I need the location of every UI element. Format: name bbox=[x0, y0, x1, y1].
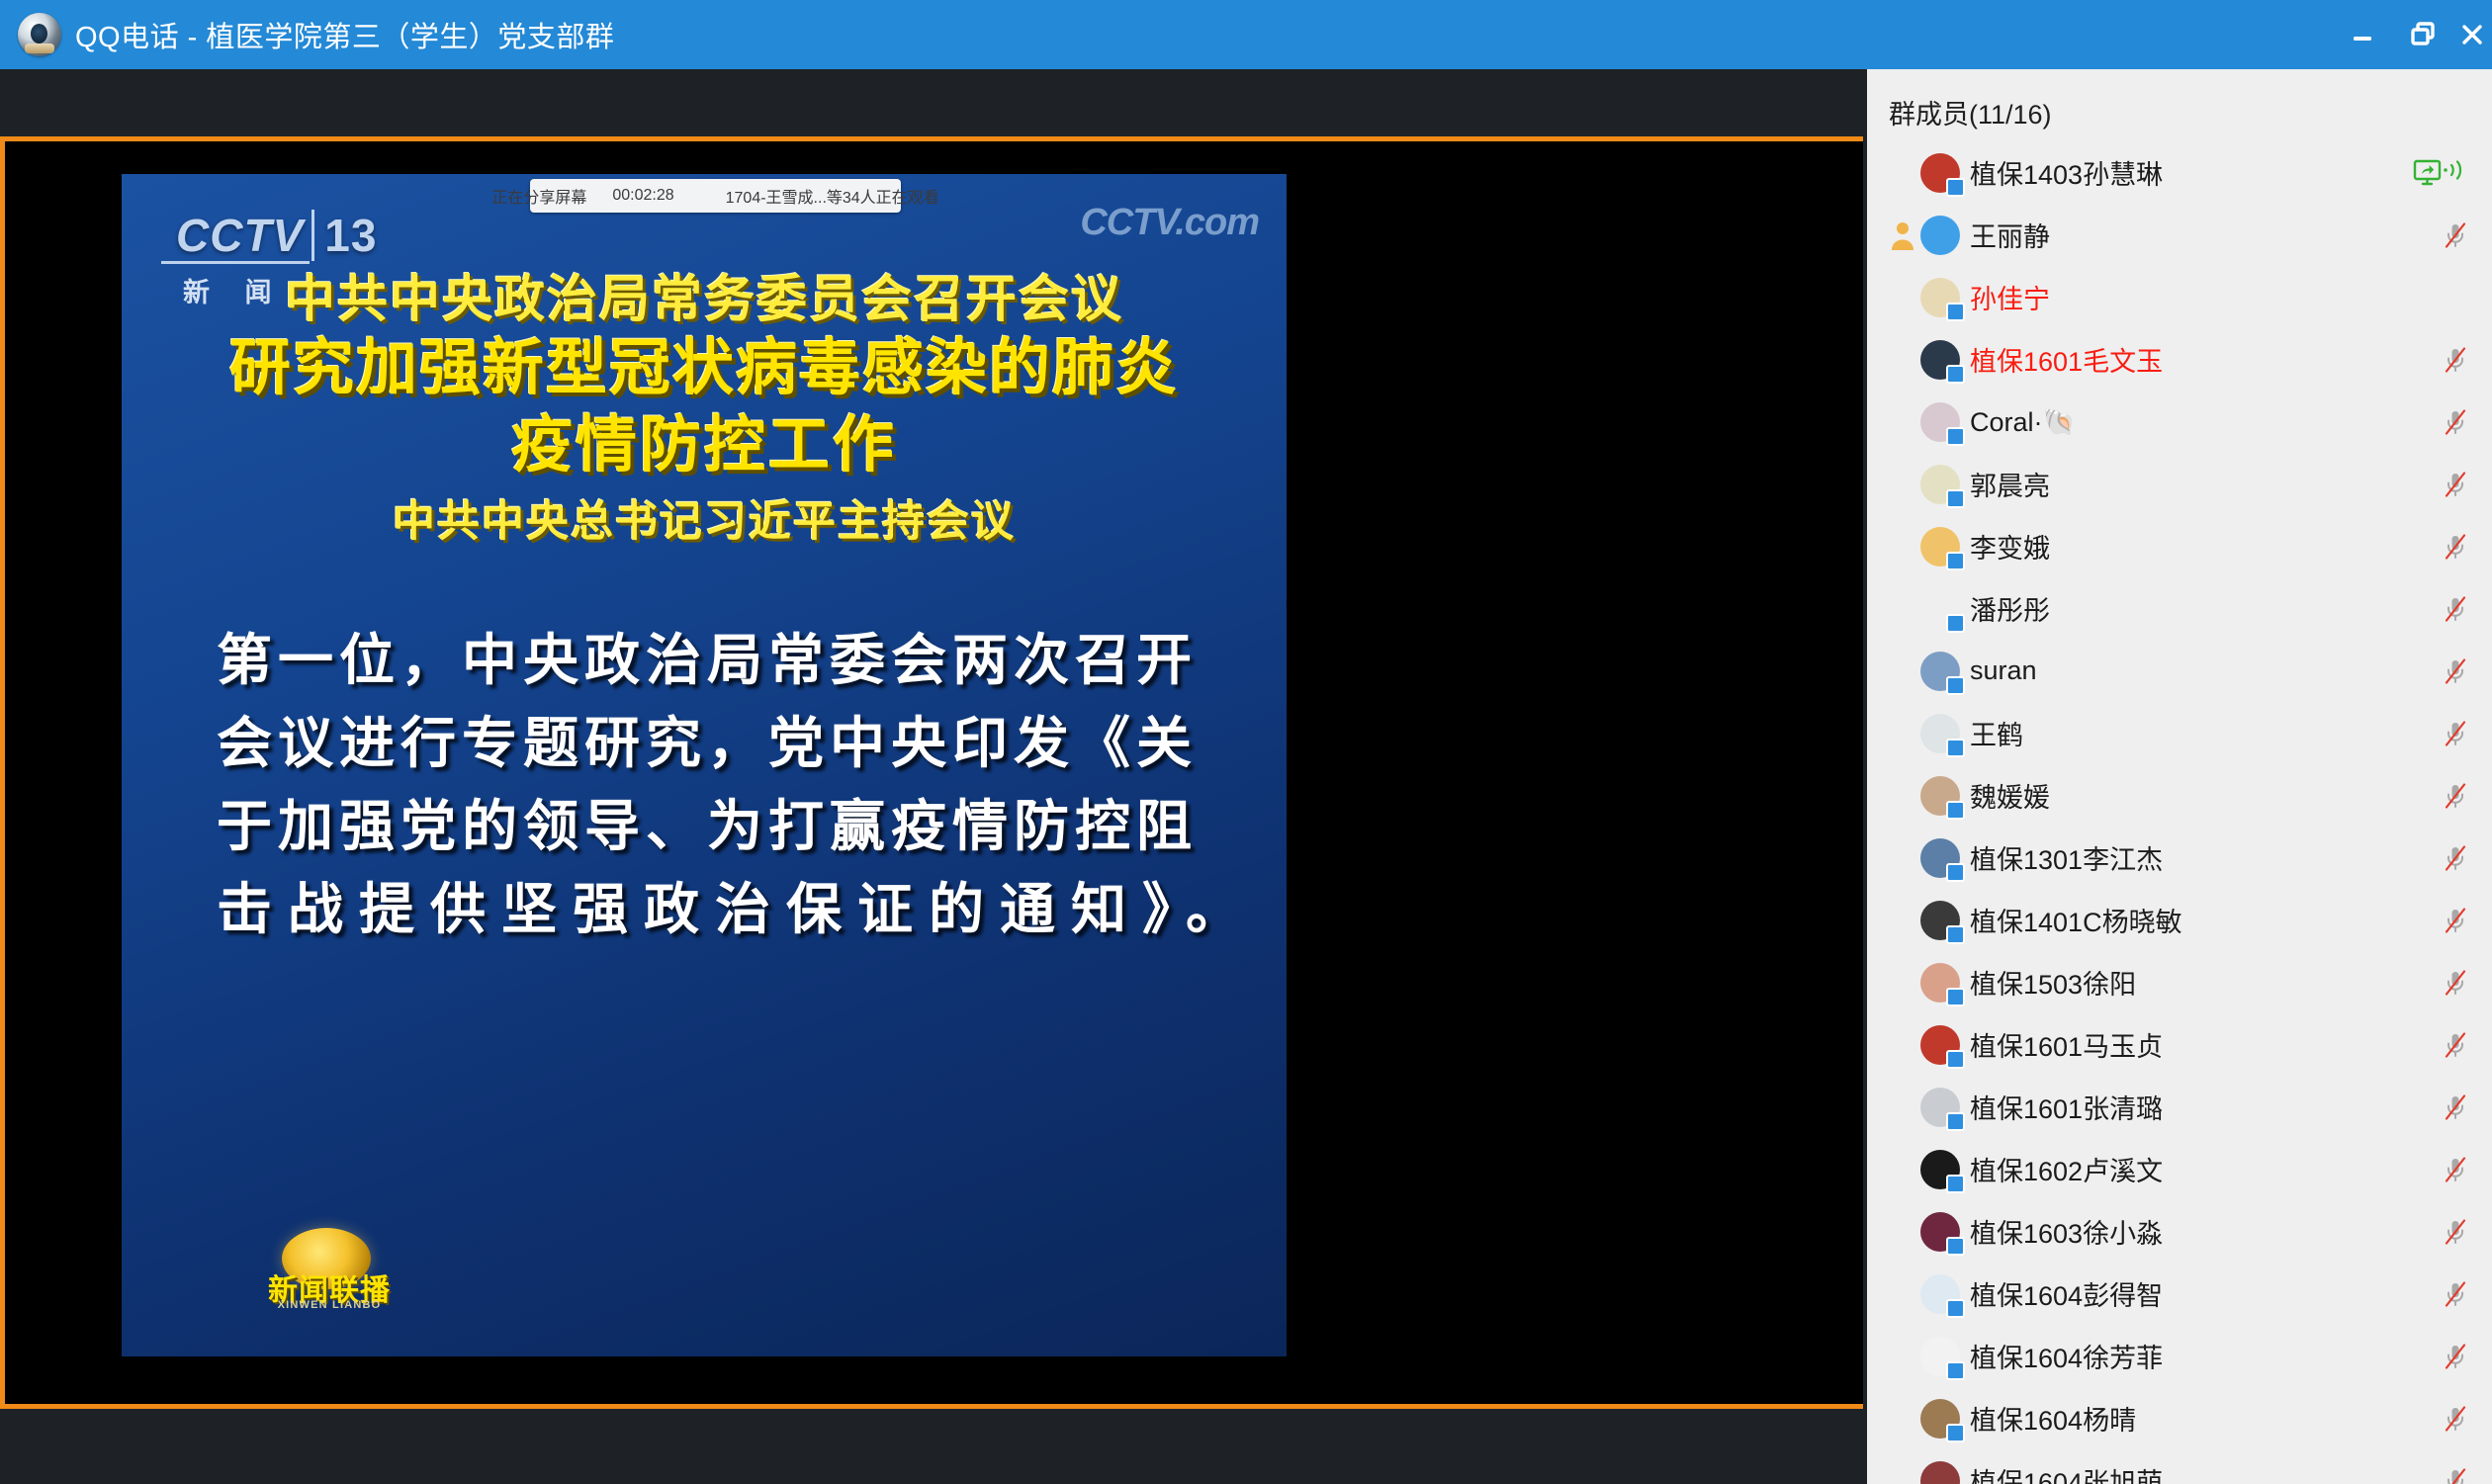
avatar bbox=[1920, 1337, 1960, 1376]
member-status-icons bbox=[2441, 1342, 2470, 1371]
avatar bbox=[1920, 963, 1960, 1003]
mic-off-icon bbox=[2441, 1466, 2470, 1484]
share-status-viewers: 1704-王雪成...等34人正在观看 bbox=[726, 184, 939, 208]
speaking-person-icon bbox=[1885, 215, 1920, 256]
avatar bbox=[1920, 527, 1960, 567]
shared-screen-frame: CCTV13 新 闻 CCTV.com 中共中央政治局常务委员会召开会议 研究加… bbox=[0, 136, 1863, 1409]
avatar bbox=[1920, 901, 1960, 940]
mic-off-icon bbox=[2441, 345, 2470, 375]
member-name: 植保1301李江杰 bbox=[1970, 838, 2163, 877]
member-name: 王丽静 bbox=[1970, 216, 2050, 254]
star-badge-icon bbox=[1946, 1361, 1965, 1380]
member-name: suran bbox=[1970, 655, 2037, 686]
avatar bbox=[1920, 1274, 1960, 1314]
avatar bbox=[1920, 776, 1960, 816]
avatar bbox=[1920, 216, 1960, 255]
mic-off-icon bbox=[2441, 1155, 2470, 1184]
member-status-icons bbox=[2441, 781, 2470, 811]
xinwen-lianbo-pinyin: XINWEN LIANBO bbox=[250, 1299, 408, 1311]
restore-icon[interactable] bbox=[2393, 0, 2454, 69]
speaking-indicator-placeholder bbox=[1885, 1149, 1920, 1190]
member-status-icons bbox=[2441, 594, 2470, 624]
mic-off-icon bbox=[2441, 1342, 2470, 1371]
member-status-icons bbox=[2413, 158, 2470, 188]
member-name: 植保1604张旭萌 bbox=[1970, 1461, 2163, 1484]
qq-phone-icon bbox=[18, 13, 61, 56]
avatar bbox=[1920, 1088, 1960, 1127]
speaking-indicator-placeholder bbox=[1885, 401, 1920, 443]
device-badge-icon bbox=[1946, 1175, 1965, 1193]
member-panel: 群成员(11/16) 植保1403孙慧琳王丽静孙佳宁植保1601毛文玉Coral… bbox=[1867, 69, 2492, 1484]
member-status-icons bbox=[2441, 1155, 2470, 1184]
member-name: 植保1603徐小淼 bbox=[1970, 1212, 2163, 1251]
body-line-2: 会议进行专题研究，党中央印发《关 bbox=[217, 702, 1186, 785]
speaking-indicator-placeholder bbox=[1885, 1273, 1920, 1315]
member-name: 植保1604徐芳菲 bbox=[1970, 1337, 2163, 1375]
speaking-person-icon bbox=[1888, 219, 1917, 251]
mic-off-icon bbox=[2441, 1217, 2470, 1247]
member-status-icons bbox=[2441, 407, 2470, 437]
member-row[interactable]: 郭晨亮 bbox=[1867, 453, 2492, 515]
member-name: 魏媛媛 bbox=[1970, 776, 2050, 815]
share-status-duration: 00:02:28 bbox=[612, 187, 673, 205]
headline-line-3: 疫情防控工作 bbox=[122, 407, 1287, 484]
member-row[interactable]: 植保1503徐阳 bbox=[1867, 951, 2492, 1013]
member-panel-header: 群成员(11/16) bbox=[1867, 69, 2492, 141]
avatar bbox=[1920, 1461, 1960, 1484]
avatar bbox=[1920, 402, 1960, 442]
cctv-underline bbox=[161, 261, 310, 264]
avatar bbox=[1920, 1399, 1960, 1439]
star-badge-icon bbox=[1946, 178, 1965, 197]
member-name: 李变娥 bbox=[1970, 527, 2050, 566]
cctv-logo-text: CCTV bbox=[176, 210, 304, 261]
member-status-icons bbox=[2441, 1030, 2470, 1060]
member-row[interactable]: 孙佳宁 bbox=[1867, 266, 2492, 328]
device-badge-icon bbox=[1946, 365, 1965, 384]
member-row[interactable]: 植保1604彭得智 bbox=[1867, 1263, 2492, 1325]
avatar bbox=[1920, 1025, 1960, 1065]
window-title: QQ电话 - 植医学院第三（学生）党支部群 bbox=[75, 14, 614, 55]
device-badge-icon bbox=[1946, 925, 1965, 944]
mic-off-icon bbox=[2441, 781, 2470, 811]
member-status-icons bbox=[2441, 1279, 2470, 1309]
headline-line-2: 研究加强新型冠状病毒感染的肺炎 bbox=[122, 330, 1287, 407]
speaking-indicator-placeholder bbox=[1885, 1460, 1920, 1484]
minimize-icon[interactable] bbox=[2332, 0, 2393, 69]
speaking-indicator-placeholder bbox=[1885, 1211, 1920, 1253]
member-name: 植保1601马玉贞 bbox=[1970, 1025, 2163, 1064]
video-stage: CCTV13 新 闻 CCTV.com 中共中央政治局常务委员会召开会议 研究加… bbox=[0, 69, 1867, 1418]
member-row[interactable]: 植保1601毛文玉 bbox=[1867, 328, 2492, 391]
member-name: 潘彤彤 bbox=[1970, 589, 2050, 628]
share-status-label: 正在分享屏幕 bbox=[491, 184, 586, 208]
member-row[interactable]: 植保1604杨晴 bbox=[1867, 1387, 2492, 1449]
headline-line-4: 中共中央总书记习近平主持会议 bbox=[122, 490, 1287, 554]
member-name: 植保1604杨晴 bbox=[1970, 1399, 2136, 1438]
member-status-icons bbox=[2441, 968, 2470, 998]
share-status-bar: 正在分享屏幕 00:02:28 1704-王雪成...等34人正在观看 bbox=[530, 179, 901, 213]
member-row[interactable]: 植保1604徐芳菲 bbox=[1867, 1325, 2492, 1387]
member-name: 植保1503徐阳 bbox=[1970, 963, 2136, 1002]
member-status-icons bbox=[2441, 1217, 2470, 1247]
member-name: Coral·🐚 bbox=[1970, 406, 2076, 438]
member-name: 植保1602卢溪文 bbox=[1970, 1150, 2163, 1188]
device-badge-icon bbox=[1946, 1050, 1965, 1069]
device-badge-icon bbox=[1946, 676, 1965, 695]
avatar bbox=[1920, 838, 1960, 878]
member-row[interactable]: Coral·🐚 bbox=[1867, 391, 2492, 453]
member-row[interactable]: 植保1403孙慧琳 bbox=[1867, 141, 2492, 204]
member-row[interactable]: 潘彤彤 bbox=[1867, 577, 2492, 640]
avatar bbox=[1920, 714, 1960, 753]
member-row[interactable]: 王丽静 bbox=[1867, 204, 2492, 266]
speaking-indicator-placeholder bbox=[1885, 1336, 1920, 1377]
avatar bbox=[1920, 340, 1960, 380]
device-badge-icon bbox=[1946, 1237, 1965, 1256]
qq-call-window: QQ电话 - 植医学院第三（学生）党支部群 bbox=[0, 0, 2492, 1484]
speaking-indicator-placeholder bbox=[1885, 1398, 1920, 1440]
member-list[interactable]: 植保1403孙慧琳王丽静孙佳宁植保1601毛文玉Coral·🐚郭晨亮李变娥潘彤彤… bbox=[1867, 141, 2492, 1484]
mic-off-icon bbox=[2441, 843, 2470, 873]
member-status-icons bbox=[2441, 220, 2470, 250]
avatar bbox=[1920, 1212, 1960, 1252]
avatar bbox=[1920, 652, 1960, 691]
speaking-indicator-placeholder bbox=[1885, 713, 1920, 754]
news-headline: 中共中央政治局常务委员会召开会议 研究加强新型冠状病毒感染的肺炎 疫情防控工作 … bbox=[122, 269, 1287, 554]
cctv-com-watermark: CCTV.com bbox=[1080, 202, 1259, 244]
member-row[interactable]: 植保1601张清璐 bbox=[1867, 1076, 2492, 1138]
member-name: 王鹤 bbox=[1970, 714, 2023, 752]
speaking-indicator-placeholder bbox=[1885, 775, 1920, 817]
close-icon[interactable] bbox=[2454, 0, 2492, 69]
mic-off-icon bbox=[2441, 470, 2470, 499]
member-row[interactable]: 魏媛媛 bbox=[1867, 764, 2492, 827]
avatar bbox=[1920, 1150, 1960, 1189]
member-status-icons bbox=[2441, 843, 2470, 873]
device-badge-icon bbox=[1946, 988, 1965, 1006]
device-badge-icon bbox=[1946, 489, 1965, 508]
mic-off-icon bbox=[2441, 594, 2470, 624]
member-row[interactable]: 植保1602卢溪文 bbox=[1867, 1138, 2492, 1200]
member-status-icons bbox=[2441, 1404, 2470, 1434]
xinwen-lianbo-logo: 新闻联播 XINWEN LIANBO bbox=[250, 1228, 408, 1319]
speaking-indicator-placeholder bbox=[1885, 900, 1920, 941]
speaking-indicator-placeholder bbox=[1885, 962, 1920, 1004]
speaking-indicator-placeholder bbox=[1885, 339, 1920, 381]
mic-off-icon bbox=[2441, 532, 2470, 562]
member-name: 植保1601毛文玉 bbox=[1970, 340, 2163, 379]
speaking-indicator-placeholder bbox=[1885, 526, 1920, 567]
member-row[interactable]: 植保1604张旭萌 bbox=[1867, 1449, 2492, 1484]
news-body: 第一位，中央政治局常委会两次召开 会议进行专题研究，党中央印发《关 于加强党的领… bbox=[217, 619, 1186, 951]
member-row[interactable]: 植保1401C杨晓敏 bbox=[1867, 889, 2492, 951]
device-badge-icon bbox=[1946, 427, 1965, 446]
mic-off-icon bbox=[2441, 407, 2470, 437]
speaking-indicator-placeholder bbox=[1885, 588, 1920, 630]
body-line-4: 击战提供坚强政治保证的通知》。 bbox=[217, 868, 1186, 951]
member-row[interactable]: 植保1301李江杰 bbox=[1867, 827, 2492, 889]
avatar bbox=[1920, 278, 1960, 317]
title-bar: QQ电话 - 植医学院第三（学生）党支部群 bbox=[0, 0, 2492, 69]
member-name: 郭晨亮 bbox=[1970, 465, 2050, 503]
speaking-indicator-placeholder bbox=[1885, 1024, 1920, 1066]
member-name: 植保1601张清璐 bbox=[1970, 1088, 2163, 1126]
speaking-indicator-placeholder bbox=[1885, 277, 1920, 318]
mic-off-icon bbox=[2441, 968, 2470, 998]
body-line-3: 于加强党的领导、为打赢疫情防控阻 bbox=[217, 785, 1186, 868]
mic-off-icon bbox=[2441, 1404, 2470, 1434]
member-status-icons bbox=[2441, 532, 2470, 562]
headline-line-1: 中共中央政治局常务委员会召开会议 bbox=[122, 269, 1287, 330]
member-status-icons bbox=[2441, 470, 2470, 499]
speaking-indicator-placeholder bbox=[1885, 837, 1920, 879]
member-name: 植保1401C杨晓敏 bbox=[1970, 901, 2182, 939]
member-status-icons bbox=[2441, 345, 2470, 375]
screen-share-audio-icon bbox=[2413, 158, 2470, 188]
mic-off-icon bbox=[2441, 719, 2470, 748]
member-name: 植保1604彭得智 bbox=[1970, 1274, 2163, 1313]
star-badge-icon bbox=[1946, 863, 1965, 882]
mic-off-icon bbox=[2441, 656, 2470, 686]
device-badge-icon bbox=[1946, 614, 1965, 633]
member-name: 植保1403孙慧琳 bbox=[1970, 153, 2163, 192]
member-row[interactable]: 植保1603徐小淼 bbox=[1867, 1200, 2492, 1263]
speaking-indicator-placeholder bbox=[1885, 152, 1920, 194]
device-badge-icon bbox=[1946, 1299, 1965, 1318]
mic-off-icon bbox=[2441, 220, 2470, 250]
member-name: 孙佳宁 bbox=[1970, 278, 2050, 316]
member-row[interactable]: suran bbox=[1867, 640, 2492, 702]
device-badge-icon bbox=[1946, 739, 1965, 757]
device-badge-icon bbox=[1946, 552, 1965, 570]
member-status-icons bbox=[2441, 1092, 2470, 1122]
avatar bbox=[1920, 153, 1960, 193]
member-row[interactable]: 王鹤 bbox=[1867, 702, 2492, 764]
device-badge-icon bbox=[1946, 1424, 1965, 1442]
mic-off-icon bbox=[2441, 1030, 2470, 1060]
body-line-1: 第一位，中央政治局常委会两次召开 bbox=[217, 619, 1186, 702]
member-status-icons bbox=[2441, 719, 2470, 748]
member-row[interactable]: 李变娥 bbox=[1867, 515, 2492, 577]
device-badge-icon bbox=[1946, 801, 1965, 820]
avatar bbox=[1920, 589, 1960, 629]
speaking-indicator-placeholder bbox=[1885, 651, 1920, 692]
shared-video-content: CCTV13 新 闻 CCTV.com 中共中央政治局常务委员会召开会议 研究加… bbox=[122, 174, 1287, 1356]
cctv-channel-number: 13 bbox=[311, 210, 377, 261]
avatar bbox=[1920, 465, 1960, 504]
window-controls bbox=[2332, 0, 2492, 69]
cctv13-logo: CCTV13 bbox=[176, 209, 377, 262]
device-badge-icon bbox=[1946, 303, 1965, 321]
device-badge-icon bbox=[1946, 1112, 1965, 1131]
speaking-indicator-placeholder bbox=[1885, 464, 1920, 505]
mic-off-icon bbox=[2441, 1279, 2470, 1309]
speaking-indicator-placeholder bbox=[1885, 1087, 1920, 1128]
mic-off-icon bbox=[2441, 906, 2470, 935]
mic-off-icon bbox=[2441, 1092, 2470, 1122]
member-row[interactable]: 植保1601马玉贞 bbox=[1867, 1013, 2492, 1076]
member-status-icons bbox=[2441, 656, 2470, 686]
member-status-icons bbox=[2441, 1466, 2470, 1484]
member-status-icons bbox=[2441, 906, 2470, 935]
